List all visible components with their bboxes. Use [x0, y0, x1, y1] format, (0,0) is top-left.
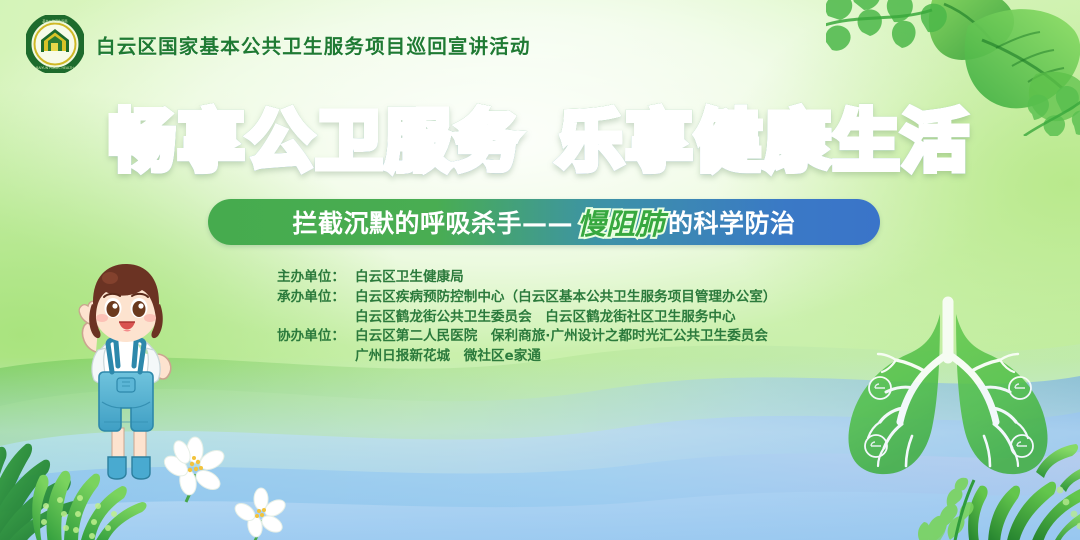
main-title-part2: 乐享健康生活 — [557, 103, 971, 180]
green-lungs-icon — [822, 296, 1074, 496]
main-title-part1: 畅享公卫服务 — [109, 103, 523, 180]
organizer-value: 白云区疾病预防控制中心（白云区基本公共卫生服务项目管理办公室） — [355, 288, 776, 308]
organizer-label: 主办单位： — [277, 268, 355, 288]
organizer-row: 承办单位：白云区疾病预防控制中心（白云区基本公共卫生服务项目管理办公室） — [277, 288, 776, 308]
poster-canvas: 基本公共卫生服务 BAIYUN PUBLIC HEALTH 白云区国家基本公共卫… — [0, 0, 1080, 540]
organizer-label: 承办单位： — [277, 288, 355, 308]
organizer-row: 白云区鹤龙街公共卫生委员会 白云区鹤龙街社区卫生服务中心 — [277, 308, 776, 328]
header-title: 白云区国家基本公共卫生服务项目巡回宣讲活动 — [96, 30, 531, 59]
subtitle-emphasis: 慢阻肺 — [573, 201, 668, 243]
cartoon-girl-waving-illustration — [62, 252, 190, 490]
subtitle-lead: 拦截沉默的呼吸杀手—— — [292, 204, 573, 240]
subtitle-pill: 拦截沉默的呼吸杀手——慢阻肺的科学防治 — [208, 199, 880, 245]
organizer-row: 协办单位：白云区第二人民医院 保利商旅·广州设计之都时光汇公共卫生委员会 — [277, 327, 776, 347]
subtitle-tail: 的科学防治 — [668, 204, 796, 240]
svg-text:BAIYUN PUBLIC HEALTH: BAIYUN PUBLIC HEALTH — [36, 66, 74, 70]
organizer-value: 广州日报新花城 微社区e家通 — [355, 347, 541, 367]
organizer-row: 广州日报新花城 微社区e家通 — [277, 347, 776, 367]
organizer-label: 协办单位： — [277, 327, 355, 347]
baiyun-health-emblem-icon: 基本公共卫生服务 BAIYUN PUBLIC HEALTH — [26, 15, 84, 73]
organizer-block: 主办单位：白云区卫生健康局 承办单位：白云区疾病预防控制中心（白云区基本公共卫生… — [277, 268, 776, 367]
svg-text:基本公共卫生服务: 基本公共卫生服务 — [42, 19, 68, 24]
organizer-row: 主办单位：白云区卫生健康局 — [277, 268, 776, 288]
organizer-value: 白云区卫生健康局 — [355, 268, 464, 288]
header-bar: 基本公共卫生服务 BAIYUN PUBLIC HEALTH 白云区国家基本公共卫… — [0, 0, 1080, 88]
organizer-value: 白云区鹤龙街公共卫生委员会 白云区鹤龙街社区卫生服务中心 — [355, 308, 736, 328]
organizer-value: 白云区第二人民医院 保利商旅·广州设计之都时光汇公共卫生委员会 — [355, 327, 768, 347]
main-title: 畅享公卫服务乐享健康生活 — [0, 88, 1080, 184]
organizer-label — [277, 308, 355, 328]
organizer-label — [277, 347, 355, 367]
